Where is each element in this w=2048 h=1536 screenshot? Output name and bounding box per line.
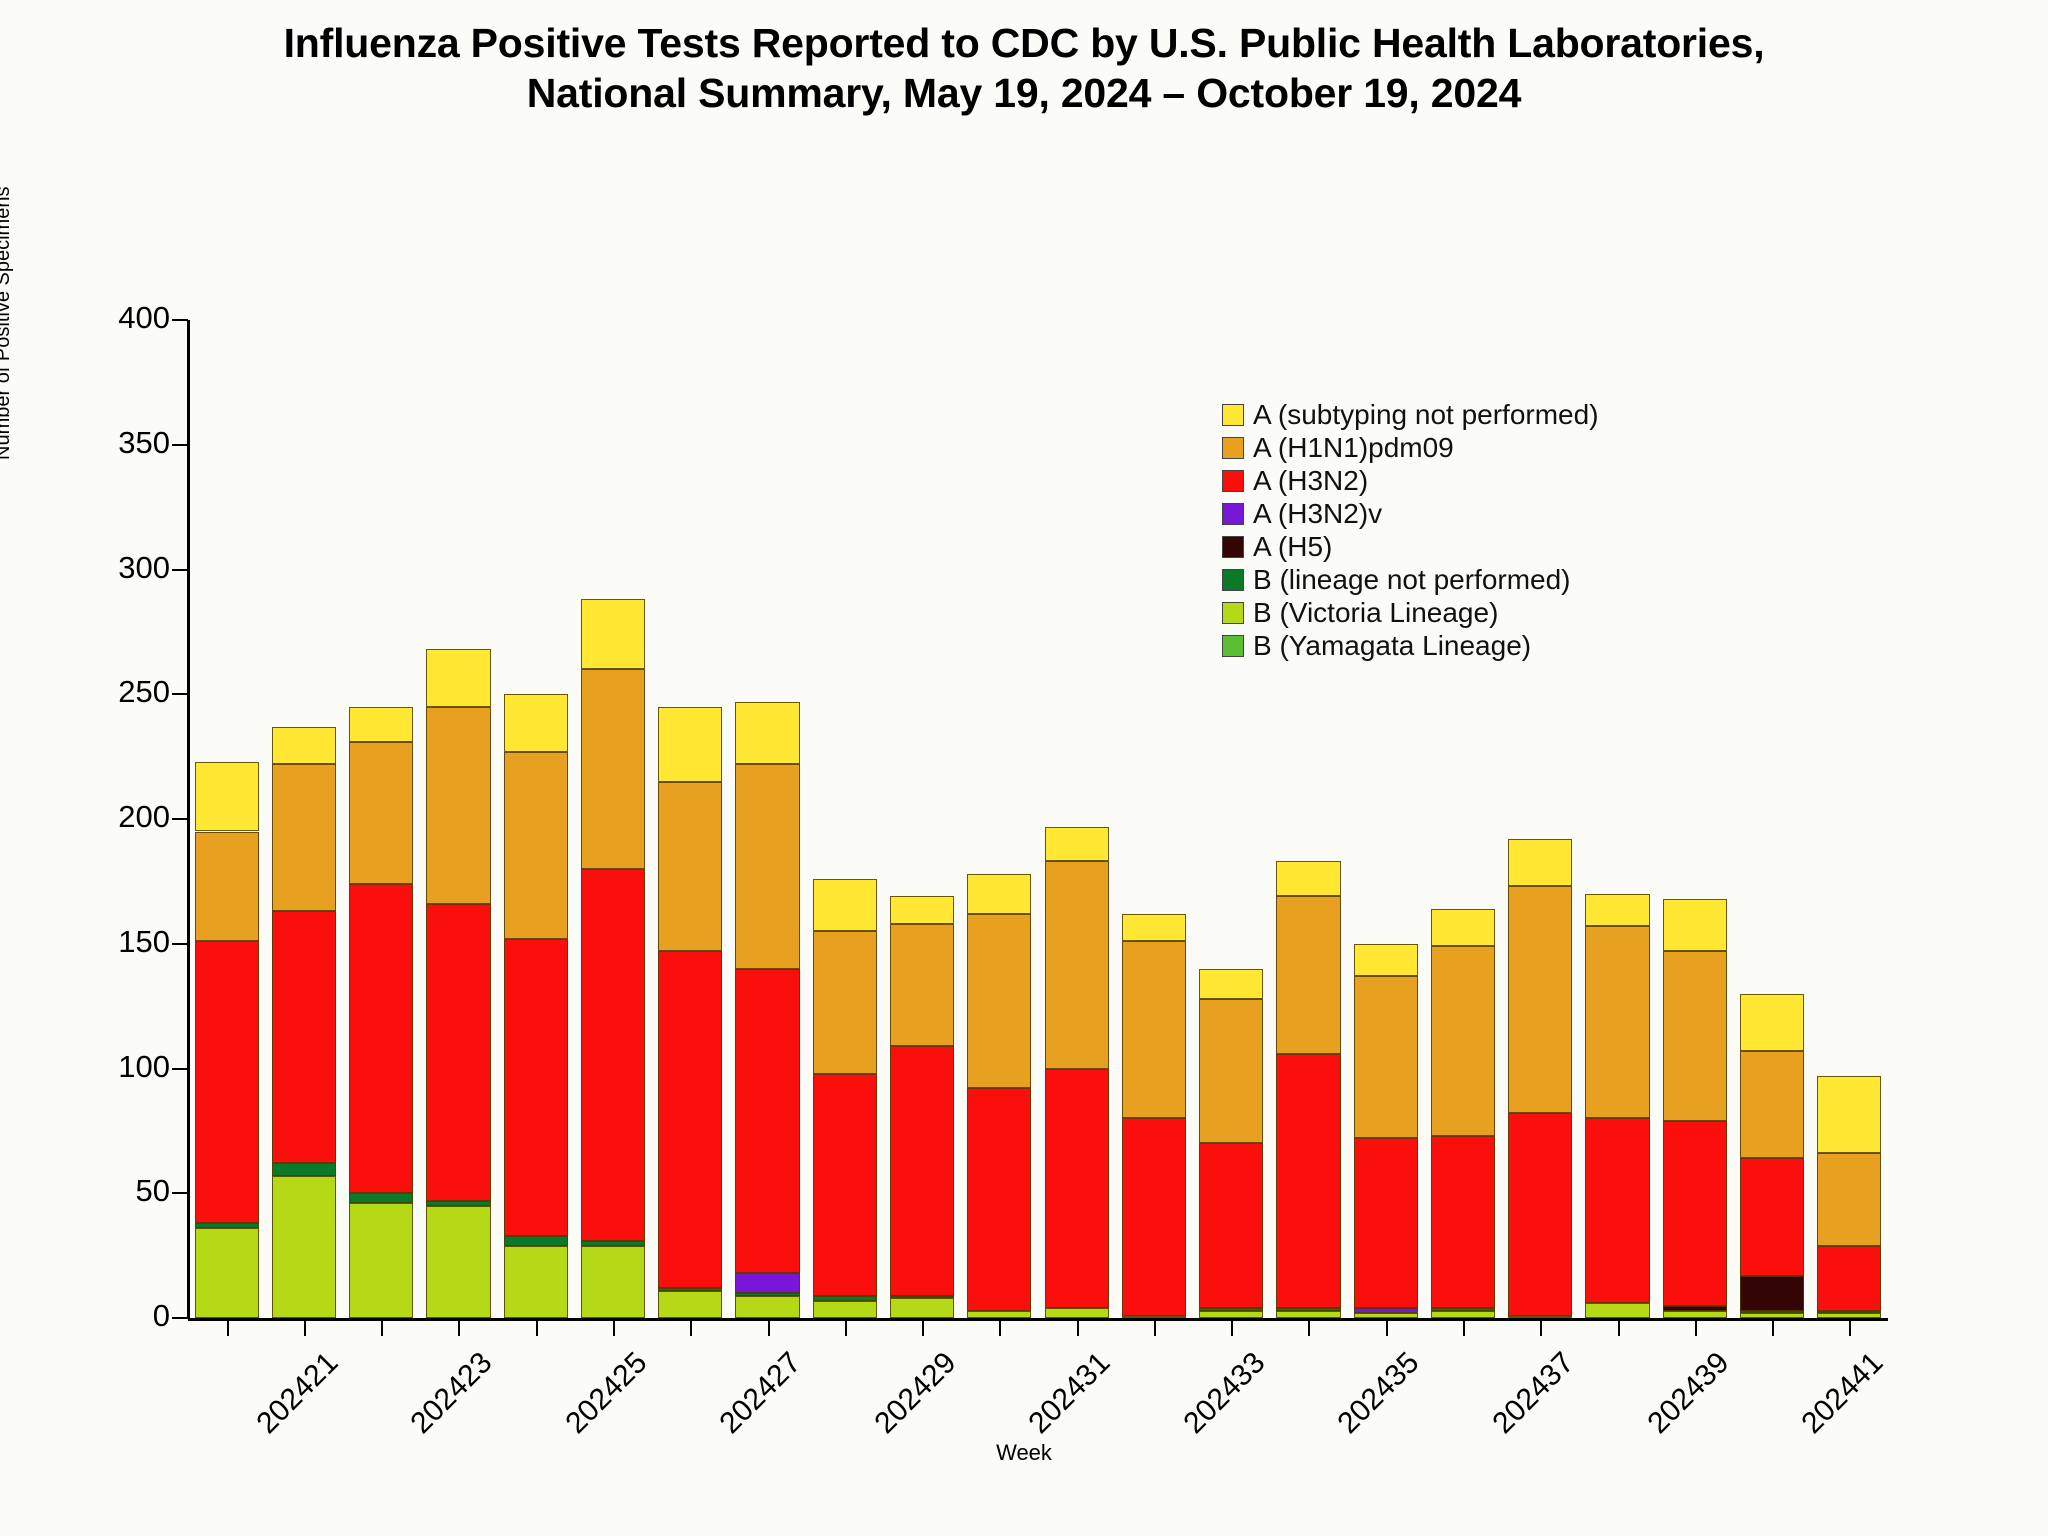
legend-item-6[interactable]: B (Victoria Lineage) bbox=[1222, 596, 1599, 629]
bar-segment bbox=[195, 1228, 259, 1318]
legend-label: B (Victoria Lineage) bbox=[1253, 597, 1498, 629]
plot-area: 2024212024232024252024272024292024312024… bbox=[188, 320, 1888, 1318]
y-axis-title: Number of Positive Specimens bbox=[0, 187, 15, 460]
x-tick bbox=[1386, 1319, 1388, 1336]
bar-segment bbox=[504, 1246, 568, 1318]
bar-segment bbox=[1585, 1303, 1649, 1318]
bar-segment bbox=[1663, 951, 1727, 1121]
bar-segment bbox=[1431, 1136, 1495, 1308]
bar-segment bbox=[813, 1296, 877, 1301]
bar-segment bbox=[658, 707, 722, 782]
bar-segment bbox=[1045, 1308, 1109, 1318]
x-tick bbox=[768, 1319, 770, 1336]
bar-202442[interactable] bbox=[1817, 1076, 1881, 1318]
bar-segment bbox=[1276, 896, 1340, 1053]
bar-segment bbox=[1663, 1121, 1727, 1306]
bar-segment bbox=[735, 1296, 799, 1318]
legend-label: A (H5) bbox=[1253, 531, 1332, 563]
bar-segment bbox=[581, 1246, 645, 1318]
bar-202424[interactable] bbox=[426, 649, 490, 1318]
bar-202438[interactable] bbox=[1508, 829, 1572, 1318]
bar-202436[interactable] bbox=[1354, 944, 1418, 1318]
bar-202434[interactable] bbox=[1199, 961, 1263, 1318]
bar-segment bbox=[1508, 1113, 1572, 1315]
bar-202421[interactable] bbox=[195, 762, 259, 1318]
bar-202422[interactable] bbox=[272, 727, 336, 1318]
bar-segment bbox=[1740, 994, 1804, 1051]
bar-segment bbox=[195, 832, 259, 942]
bar-segment bbox=[735, 764, 799, 969]
legend-swatch-icon bbox=[1222, 635, 1244, 657]
bar-segment bbox=[349, 1193, 413, 1203]
page-title: Influenza Positive Tests Reported to CDC… bbox=[0, 18, 2048, 118]
bar-segment bbox=[272, 727, 336, 764]
bar-segment bbox=[1740, 1311, 1804, 1313]
y-tick bbox=[172, 693, 188, 695]
y-tick-label: 150 bbox=[50, 924, 170, 960]
x-tick bbox=[613, 1319, 615, 1336]
bar-202435[interactable] bbox=[1276, 861, 1340, 1318]
x-tick bbox=[922, 1319, 924, 1336]
x-tick bbox=[845, 1319, 847, 1336]
bar-segment bbox=[658, 951, 722, 1288]
legend-label: B (lineage not performed) bbox=[1253, 564, 1571, 596]
bar-segment bbox=[890, 896, 954, 923]
bar-202440[interactable] bbox=[1663, 899, 1727, 1318]
bar-segment bbox=[1199, 1143, 1263, 1308]
x-tick bbox=[227, 1319, 229, 1336]
bar-segment bbox=[195, 762, 259, 832]
bar-segment bbox=[658, 782, 722, 952]
bar-segment bbox=[1817, 1246, 1881, 1311]
x-tick bbox=[1695, 1319, 1697, 1336]
bar-segment bbox=[813, 1074, 877, 1296]
legend-label: A (H3N2)v bbox=[1253, 498, 1382, 530]
bar-202431[interactable] bbox=[967, 874, 1031, 1318]
y-tick-label: 400 bbox=[50, 300, 170, 336]
bar-202437[interactable] bbox=[1431, 909, 1495, 1318]
bar-segment bbox=[967, 1311, 1031, 1318]
bar-segment bbox=[1199, 1308, 1263, 1310]
bar-segment bbox=[1276, 1054, 1340, 1308]
y-axis-labels: 050100150200250300350400 bbox=[40, 320, 170, 1318]
bar-segment bbox=[1199, 1311, 1263, 1318]
bar-segment bbox=[658, 1291, 722, 1318]
bar-segment bbox=[658, 1288, 722, 1290]
bar-segment bbox=[349, 742, 413, 884]
legend-item-3[interactable]: A (H3N2)v bbox=[1222, 497, 1599, 530]
x-tick bbox=[1849, 1319, 1851, 1336]
bar-segment bbox=[581, 1241, 645, 1246]
legend-item-7[interactable]: B (Yamagata Lineage) bbox=[1222, 629, 1599, 662]
legend-label: A (subtyping not performed) bbox=[1253, 399, 1599, 431]
x-tick bbox=[458, 1319, 460, 1336]
y-tick bbox=[172, 1068, 188, 1070]
bar-segment bbox=[272, 764, 336, 911]
x-tick bbox=[1618, 1319, 1620, 1336]
x-tick-label: 202427 bbox=[714, 1346, 809, 1441]
legend-label: A (H3N2) bbox=[1253, 465, 1368, 497]
x-tick bbox=[690, 1319, 692, 1336]
legend-label: A (H1N1)pdm09 bbox=[1253, 432, 1454, 464]
bar-segment bbox=[735, 702, 799, 764]
x-tick bbox=[1308, 1319, 1310, 1336]
bar-segment bbox=[735, 1293, 799, 1295]
legend-swatch-icon bbox=[1222, 536, 1244, 558]
bar-segment bbox=[967, 914, 1031, 1089]
bar-segment bbox=[581, 599, 645, 669]
bar-segment bbox=[1740, 1158, 1804, 1275]
bar-segment bbox=[272, 1176, 336, 1318]
bar-202441[interactable] bbox=[1740, 994, 1804, 1318]
y-tick-label: 300 bbox=[50, 550, 170, 586]
legend-swatch-icon bbox=[1222, 503, 1244, 525]
x-tick bbox=[536, 1319, 538, 1336]
y-tick-label: 200 bbox=[50, 799, 170, 835]
x-tick bbox=[1154, 1319, 1156, 1336]
y-tick-label: 250 bbox=[50, 674, 170, 710]
x-tick-label: 202433 bbox=[1177, 1346, 1272, 1441]
y-tick bbox=[172, 818, 188, 820]
x-axis-line bbox=[188, 1318, 1888, 1321]
bar-202429[interactable] bbox=[813, 879, 877, 1318]
x-tick bbox=[1772, 1319, 1774, 1336]
bar-202423[interactable] bbox=[349, 707, 413, 1318]
x-tick bbox=[1540, 1319, 1542, 1336]
y-tick-label: 0 bbox=[50, 1298, 170, 1334]
x-tick-label: 202429 bbox=[868, 1346, 963, 1441]
bar-segment bbox=[813, 879, 877, 931]
bar-segment bbox=[1740, 1313, 1804, 1318]
legend-swatch-icon bbox=[1222, 404, 1244, 426]
bar-segment bbox=[1199, 999, 1263, 1144]
bar-segment bbox=[1585, 926, 1649, 1118]
legend-swatch-icon bbox=[1222, 470, 1244, 492]
y-tick bbox=[172, 1192, 188, 1194]
bar-segment bbox=[272, 911, 336, 1163]
bar-segment bbox=[1508, 839, 1572, 886]
x-tick-label: 202435 bbox=[1332, 1346, 1427, 1441]
x-tick-label: 202437 bbox=[1486, 1346, 1581, 1441]
x-tick-label: 202441 bbox=[1795, 1346, 1890, 1441]
bar-202433[interactable] bbox=[1122, 914, 1186, 1318]
bar-segment bbox=[1508, 886, 1572, 1113]
bar-segment bbox=[967, 1088, 1031, 1310]
legend-swatch-icon bbox=[1222, 602, 1244, 624]
bar-segment bbox=[890, 1296, 954, 1298]
bar-segment bbox=[349, 1203, 413, 1318]
legend-item-2[interactable]: A (H3N2) bbox=[1222, 464, 1599, 497]
bar-segment bbox=[1122, 914, 1186, 941]
bar-segment bbox=[890, 924, 954, 1046]
bar-segment bbox=[735, 969, 799, 1273]
bar-segment bbox=[1276, 861, 1340, 896]
bar-segment bbox=[1122, 941, 1186, 1118]
title-line-2: National Summary, May 19, 2024 – October… bbox=[0, 68, 2048, 118]
bar-segment bbox=[1354, 1308, 1418, 1313]
y-tick-label: 50 bbox=[50, 1173, 170, 1209]
bar-segment bbox=[1817, 1153, 1881, 1245]
y-tick bbox=[172, 1317, 188, 1319]
bar-202428[interactable] bbox=[735, 702, 799, 1318]
bar-segment bbox=[1045, 827, 1109, 862]
bar-segment bbox=[195, 1223, 259, 1228]
x-tick-label: 202423 bbox=[404, 1346, 499, 1441]
bar-segment bbox=[967, 874, 1031, 914]
bar-segment bbox=[426, 1201, 490, 1206]
bar-segment bbox=[504, 1236, 568, 1246]
x-axis-title: Week bbox=[0, 1440, 2048, 1466]
bar-segment bbox=[813, 1301, 877, 1318]
x-tick-label: 202421 bbox=[250, 1346, 345, 1441]
bar-segment bbox=[1276, 1311, 1340, 1318]
bar-segment bbox=[426, 904, 490, 1201]
bar-segment bbox=[1817, 1313, 1881, 1318]
x-tick bbox=[1463, 1319, 1465, 1336]
bar-segment bbox=[1354, 976, 1418, 1138]
bar-segment bbox=[272, 1163, 336, 1175]
bar-segment bbox=[426, 707, 490, 904]
bar-segment bbox=[1431, 1311, 1495, 1318]
x-tick bbox=[381, 1319, 383, 1336]
legend-label: B (Yamagata Lineage) bbox=[1253, 630, 1531, 662]
x-tick-label: 202425 bbox=[559, 1346, 654, 1441]
bar-segment bbox=[426, 1206, 490, 1318]
bar-202439[interactable] bbox=[1585, 886, 1649, 1318]
bar-202427[interactable] bbox=[658, 707, 722, 1318]
y-tick bbox=[172, 569, 188, 571]
legend: A (subtyping not performed)A (H1N1)pdm09… bbox=[1222, 398, 1599, 662]
bar-segment bbox=[1740, 1051, 1804, 1158]
bar-segment bbox=[1508, 1316, 1572, 1318]
x-tick bbox=[999, 1319, 1001, 1336]
legend-item-5[interactable]: B (lineage not performed) bbox=[1222, 563, 1599, 596]
y-tick bbox=[172, 444, 188, 446]
x-tick-label: 202431 bbox=[1023, 1346, 1118, 1441]
bar-segment bbox=[890, 1298, 954, 1318]
bar-segment bbox=[504, 939, 568, 1236]
bar-segment bbox=[1354, 1313, 1418, 1318]
bar-segment bbox=[813, 931, 877, 1073]
y-tick-label: 350 bbox=[50, 425, 170, 461]
bar-segment bbox=[735, 1273, 799, 1293]
x-tick-label: 202439 bbox=[1641, 1346, 1736, 1441]
bar-segment bbox=[581, 669, 645, 869]
bar-segment bbox=[1817, 1076, 1881, 1153]
y-tick bbox=[172, 943, 188, 945]
bar-segment bbox=[1276, 1308, 1340, 1310]
bar-202425[interactable] bbox=[504, 694, 568, 1318]
y-tick bbox=[172, 319, 188, 321]
bar-segment bbox=[1585, 1118, 1649, 1303]
bar-segment bbox=[581, 869, 645, 1241]
bar-segment bbox=[504, 752, 568, 939]
bar-segment bbox=[195, 941, 259, 1223]
bar-segment bbox=[504, 694, 568, 751]
y-tick-label: 100 bbox=[50, 1049, 170, 1085]
bar-segment bbox=[1122, 1118, 1186, 1315]
legend-swatch-icon bbox=[1222, 569, 1244, 591]
x-tick bbox=[304, 1319, 306, 1336]
title-line-1: Influenza Positive Tests Reported to CDC… bbox=[0, 18, 2048, 68]
bar-segment bbox=[1045, 1069, 1109, 1309]
bar-segment bbox=[890, 1046, 954, 1296]
bar-segment bbox=[1740, 1276, 1804, 1311]
bar-segment bbox=[1431, 946, 1495, 1136]
legend-item-0[interactable]: A (subtyping not performed) bbox=[1222, 398, 1599, 431]
bar-202426[interactable] bbox=[581, 599, 645, 1318]
bar-segment bbox=[1199, 969, 1263, 999]
bar-segment bbox=[349, 884, 413, 1193]
bar-segment bbox=[1431, 1308, 1495, 1310]
bar-segment bbox=[1122, 1316, 1186, 1318]
bar-segment bbox=[1663, 1311, 1727, 1318]
bar-segment bbox=[1663, 899, 1727, 951]
bar-segment bbox=[1585, 894, 1649, 926]
bar-segment bbox=[1431, 909, 1495, 946]
bar-segment bbox=[349, 707, 413, 742]
bar-segment bbox=[1663, 1306, 1727, 1311]
bar-segment bbox=[1817, 1311, 1881, 1313]
bar-segment bbox=[1045, 861, 1109, 1068]
bar-segment bbox=[1354, 1138, 1418, 1308]
bar-202430[interactable] bbox=[890, 874, 954, 1318]
legend-item-1[interactable]: A (H1N1)pdm09 bbox=[1222, 431, 1599, 464]
bar-segment bbox=[1354, 944, 1418, 976]
legend-item-4[interactable]: A (H5) bbox=[1222, 530, 1599, 563]
bar-202432[interactable] bbox=[1045, 819, 1109, 1318]
x-tick bbox=[1231, 1319, 1233, 1336]
bar-segment bbox=[426, 649, 490, 706]
legend-swatch-icon bbox=[1222, 437, 1244, 459]
x-tick bbox=[1077, 1319, 1079, 1336]
